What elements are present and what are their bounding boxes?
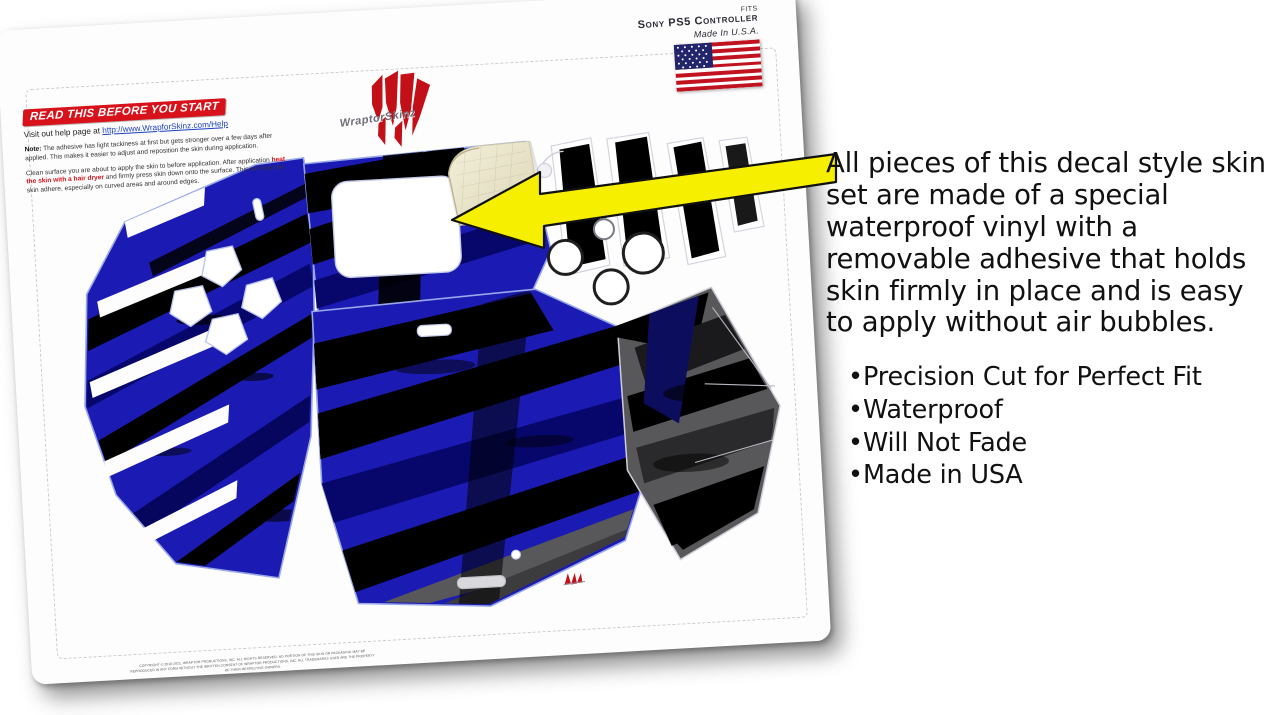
marketing-copy: All pieces of this decal style skin set … [826,148,1266,492]
bullet-glyph: • [848,394,863,427]
bullet-glyph: • [848,459,863,492]
peeling-corner [434,128,560,243]
bullet-glyph: • [848,427,863,460]
decal-piece-accents [719,136,764,232]
feature-bullet-list: •Precision Cut for Perfect Fit •Waterpro… [848,361,1266,492]
skin-sheet-paper [0,0,831,685]
bullet-label: Waterproof [863,395,1003,425]
decal-piece-left-grip [64,158,334,607]
bullet-label: Will Not Fade [863,428,1027,458]
bullet-glyph: • [848,361,863,394]
bullet-label: Made in USA [863,460,1023,490]
skin-sheet [0,0,832,700]
product-image-canvas: All pieces of this decal style skin set … [0,0,1280,715]
copy-paragraph: All pieces of this decal style skin set … [826,148,1266,339]
decal-artwork [0,0,831,685]
list-item: •Will Not Fade [848,427,1266,460]
list-item: •Waterproof [848,394,1266,427]
list-item: •Made in USA [848,459,1266,492]
decal-piece-right-grip [611,278,788,567]
list-item: •Precision Cut for Perfect Fit [848,361,1266,394]
bullet-label: Precision Cut for Perfect Fit [863,362,1202,392]
